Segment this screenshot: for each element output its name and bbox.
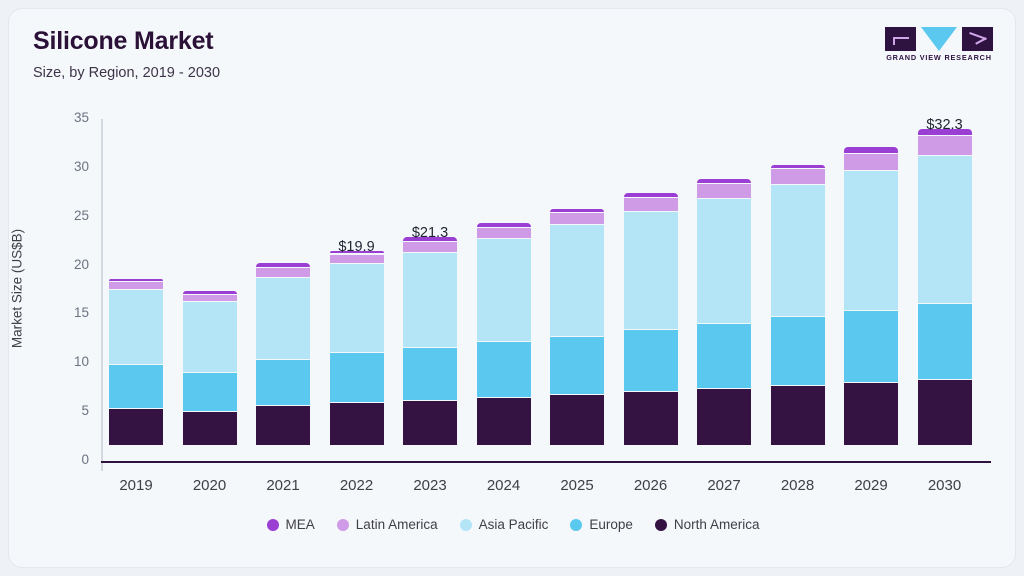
legend-item-label: Europe: [589, 517, 633, 532]
legend-item-latin-america[interactable]: Latin America: [337, 517, 438, 532]
bar-segment-2025-north-america[interactable]: [550, 394, 604, 445]
y-axis-tick-0: 0: [55, 452, 89, 467]
bar-segment-2025-europe[interactable]: [550, 336, 604, 395]
legend-item-asia-pacific[interactable]: Asia Pacific: [460, 517, 549, 532]
x-axis-line: [101, 461, 991, 463]
bar-segment-2027-asia-pacific[interactable]: [697, 198, 751, 323]
bar-segment-2021-latin-america[interactable]: [256, 267, 310, 277]
bar-segment-2027-europe[interactable]: [697, 323, 751, 388]
bar-segment-2023-north-america[interactable]: [403, 400, 457, 445]
data-label-2023: $21.3: [385, 225, 475, 241]
bar-segment-2024-europe[interactable]: [477, 341, 531, 397]
y-axis-tick-20: 20: [55, 257, 89, 272]
bar-2021[interactable]: [256, 263, 310, 445]
y-axis-title: Market Size (US$B): [10, 139, 25, 439]
bar-2030[interactable]: [918, 129, 972, 445]
bar-segment-2020-mea[interactable]: [183, 291, 237, 294]
bar-segment-2026-mea[interactable]: [624, 193, 678, 197]
bar-segment-2028-north-america[interactable]: [771, 385, 825, 445]
x-axis-tick-2019: 2019: [99, 477, 173, 494]
bar-segment-2024-asia-pacific[interactable]: [477, 238, 531, 342]
legend-item-europe[interactable]: Europe: [570, 517, 633, 532]
bar-segment-2026-north-america[interactable]: [624, 391, 678, 445]
bar-2026[interactable]: [624, 193, 678, 445]
bar-segment-2023-asia-pacific[interactable]: [403, 252, 457, 348]
bar-segment-2021-europe[interactable]: [256, 359, 310, 405]
bar-segment-2029-asia-pacific[interactable]: [844, 170, 898, 310]
y-axis-tick-10: 10: [55, 354, 89, 369]
bar-segment-2028-mea[interactable]: [771, 165, 825, 169]
bar-segment-2023-latin-america[interactable]: [403, 241, 457, 252]
bar-segment-2021-mea[interactable]: [256, 263, 310, 267]
bar-segment-2022-latin-america[interactable]: [330, 254, 384, 264]
bar-segment-2024-north-america[interactable]: [477, 397, 531, 445]
x-axis-tick-2030: 2030: [908, 477, 982, 494]
bar-segment-2022-asia-pacific[interactable]: [330, 263, 384, 352]
bar-segment-2027-mea[interactable]: [697, 179, 751, 183]
bar-2027[interactable]: [697, 179, 751, 445]
chart-card: Silicone Market Size, by Region, 2019 - …: [8, 8, 1016, 568]
bar-segment-2023-europe[interactable]: [403, 347, 457, 400]
bar-segment-2030-asia-pacific[interactable]: [918, 155, 972, 304]
bar-2028[interactable]: [771, 165, 825, 445]
bar-segment-2022-europe[interactable]: [330, 352, 384, 402]
bar-segment-2027-latin-america[interactable]: [697, 183, 751, 198]
bar-segment-2026-latin-america[interactable]: [624, 197, 678, 211]
bar-segment-2030-europe[interactable]: [918, 303, 972, 378]
bar-segment-2029-latin-america[interactable]: [844, 153, 898, 171]
bar-segment-2020-asia-pacific[interactable]: [183, 301, 237, 371]
chart-legend: MEALatin AmericaAsia PacificEuropeNorth …: [9, 517, 1016, 532]
bar-segment-2030-north-america[interactable]: [918, 379, 972, 445]
bar-segment-2019-north-america[interactable]: [109, 408, 163, 445]
legend-item-label: MEA: [286, 517, 315, 532]
y-axis-line: [101, 119, 103, 471]
x-axis-tick-2021: 2021: [246, 477, 320, 494]
bar-segment-2019-asia-pacific[interactable]: [109, 289, 163, 364]
bar-segment-2027-north-america[interactable]: [697, 388, 751, 445]
bar-2020[interactable]: [183, 291, 237, 445]
legend-swatch-icon: [460, 519, 472, 531]
x-axis-tick-2022: 2022: [320, 477, 394, 494]
y-axis-tick-35: 35: [55, 110, 89, 125]
bar-2025[interactable]: [550, 209, 604, 445]
bar-segment-2026-asia-pacific[interactable]: [624, 211, 678, 329]
bar-segment-2019-latin-america[interactable]: [109, 281, 163, 289]
legend-swatch-icon: [337, 519, 349, 531]
legend-item-label: Asia Pacific: [479, 517, 549, 532]
bar-segment-2019-mea[interactable]: [109, 279, 163, 281]
y-axis-tick-25: 25: [55, 208, 89, 223]
bar-segment-2021-north-america[interactable]: [256, 405, 310, 445]
bar-segment-2025-latin-america[interactable]: [550, 212, 604, 224]
y-axis-tick-15: 15: [55, 305, 89, 320]
data-label-2030: $32.3: [900, 117, 990, 133]
bar-2029[interactable]: [844, 147, 898, 445]
bar-2019[interactable]: [109, 279, 163, 445]
bar-segment-2029-mea[interactable]: [844, 147, 898, 153]
bar-segment-2024-latin-america[interactable]: [477, 227, 531, 238]
bar-segment-2021-asia-pacific[interactable]: [256, 277, 310, 359]
data-label-2022: $19.9: [312, 239, 402, 255]
y-axis-tick-30: 30: [55, 159, 89, 174]
bar-segment-2022-north-america[interactable]: [330, 402, 384, 445]
bar-segment-2024-mea[interactable]: [477, 223, 531, 227]
bar-segment-2030-latin-america[interactable]: [918, 135, 972, 155]
x-axis-tick-2025: 2025: [540, 477, 614, 494]
bar-2024[interactable]: [477, 223, 531, 445]
x-axis-tick-2028: 2028: [761, 477, 835, 494]
bar-segment-2025-asia-pacific[interactable]: [550, 224, 604, 335]
x-axis-tick-2027: 2027: [687, 477, 761, 494]
x-axis-tick-2023: 2023: [393, 477, 467, 494]
legend-item-label: Latin America: [356, 517, 438, 532]
x-axis-tick-2026: 2026: [614, 477, 688, 494]
y-axis-tick-5: 5: [55, 403, 89, 418]
legend-item-label: North America: [674, 517, 760, 532]
x-axis-tick-2020: 2020: [173, 477, 247, 494]
legend-swatch-icon: [655, 519, 667, 531]
x-axis-tick-2029: 2029: [834, 477, 908, 494]
x-axis-tick-2024: 2024: [467, 477, 541, 494]
bar-segment-2020-latin-america[interactable]: [183, 294, 237, 302]
bar-segment-2019-europe[interactable]: [109, 364, 163, 408]
bar-segment-2020-europe[interactable]: [183, 372, 237, 411]
legend-item-mea[interactable]: MEA: [267, 517, 315, 532]
bar-segment-2028-latin-america[interactable]: [771, 168, 825, 184]
bar-segment-2028-asia-pacific[interactable]: [771, 184, 825, 316]
bar-segment-2026-europe[interactable]: [624, 329, 678, 392]
stacked-bar-chart: Market Size (US$B) 05101520253035 201920…: [9, 9, 1016, 568]
bar-segment-2029-north-america[interactable]: [844, 382, 898, 445]
bar-segment-2028-europe[interactable]: [771, 316, 825, 385]
legend-item-north-america[interactable]: North America: [655, 517, 760, 532]
bar-segment-2020-north-america[interactable]: [183, 411, 237, 445]
bar-2023[interactable]: [403, 237, 457, 445]
bar-segment-2025-mea[interactable]: [550, 209, 604, 213]
legend-swatch-icon: [570, 519, 582, 531]
bar-segment-2029-europe[interactable]: [844, 310, 898, 382]
legend-swatch-icon: [267, 519, 279, 531]
bar-2022[interactable]: [330, 251, 384, 445]
